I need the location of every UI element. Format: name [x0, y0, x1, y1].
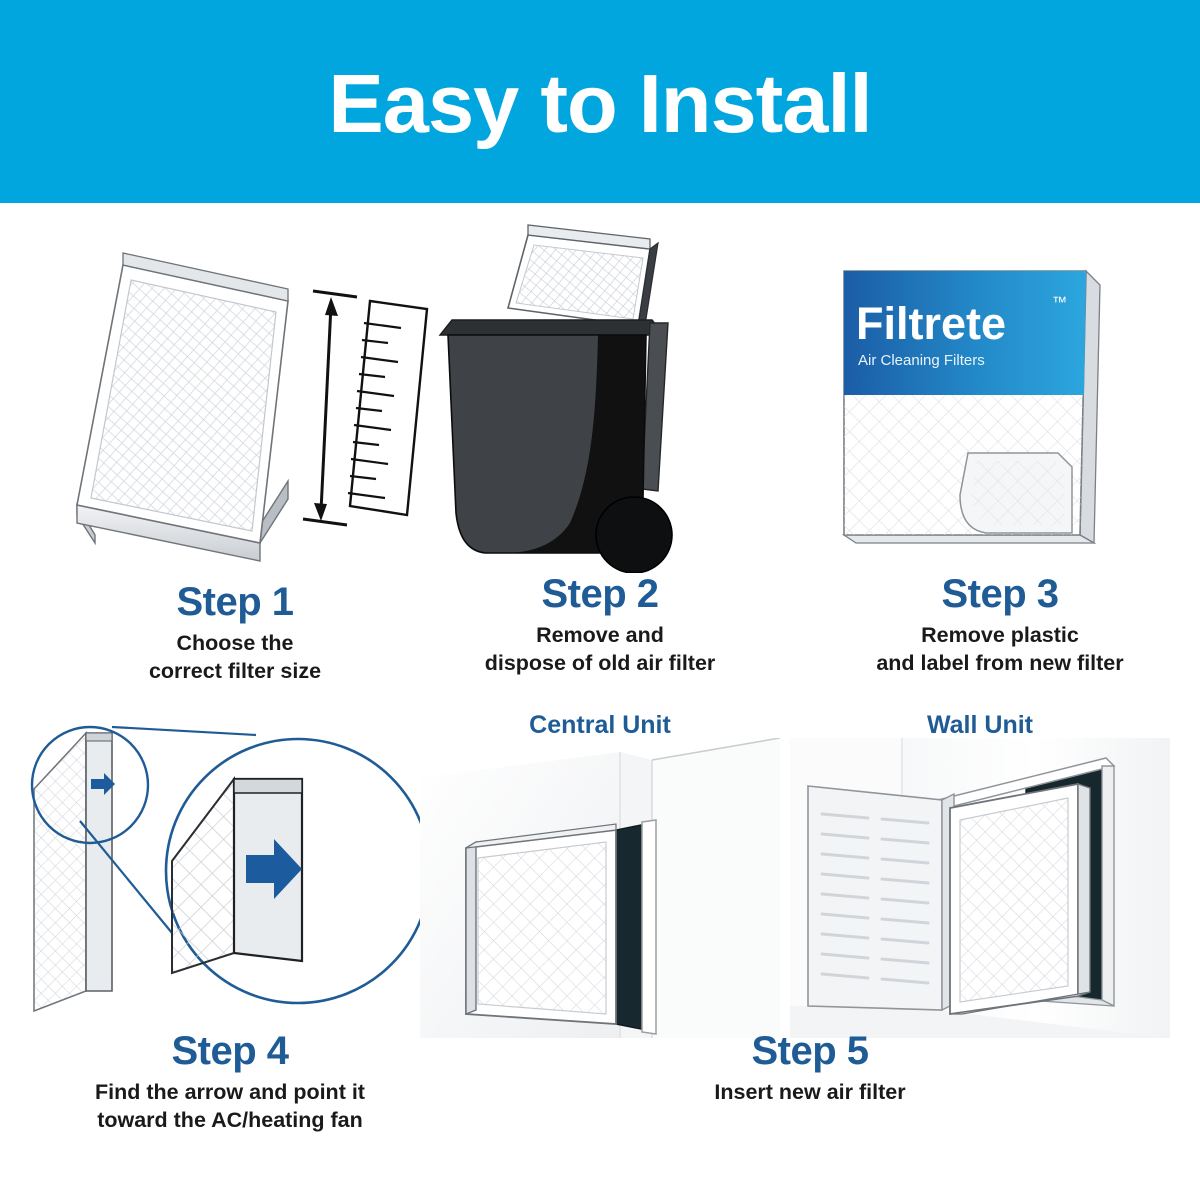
infographic-page: Easy to Install [0, 0, 1200, 1200]
step-3-cell: Filtrete ™ Air Cleaning Filters Step 3 R… [800, 243, 1200, 677]
page-title: Easy to Install [328, 62, 871, 145]
step-5-text: Step 5 Insert new air filter [600, 1030, 1020, 1107]
step-1-illustration [35, 243, 435, 573]
step-2-cell: Step 2 Remove and dispose of old air fil… [400, 223, 800, 677]
header-banner: Easy to Install [0, 0, 1200, 203]
step-1-caption: Choose the correct filter size [35, 630, 435, 685]
step-2-caption: Remove and dispose of old air filter [400, 622, 800, 677]
wall-unit-cell: Wall Unit [790, 713, 1170, 1038]
filtrete-packaged-filter-icon: Filtrete ™ Air Cleaning Filters [800, 243, 1200, 573]
central-unit-label: Central Unit [420, 713, 780, 738]
step-5-caption: Insert new air filter [600, 1079, 1020, 1107]
step-4-title: Step 4 [20, 1030, 440, 1072]
wall-unit-illustration [790, 738, 1170, 1038]
step-3-title: Step 3 [800, 573, 1200, 615]
wall-unit-label: Wall Unit [790, 713, 1170, 738]
step-1-cell: Step 1 Choose the correct filter size [35, 243, 435, 685]
steps-container: Step 1 Choose the correct filter size [0, 203, 1200, 1200]
filter-with-ruler-icon [35, 243, 435, 573]
step-4-caption: Find the arrow and point it toward the A… [20, 1079, 440, 1134]
step-2-title: Step 2 [400, 573, 800, 615]
step-3-illustration: Filtrete ™ Air Cleaning Filters [800, 243, 1200, 573]
wall-unit-icon [790, 738, 1170, 1038]
central-unit-icon [420, 738, 780, 1038]
package-trademark-icon: ™ [1052, 294, 1067, 311]
step-2-illustration [400, 223, 800, 573]
trash-bin-with-old-filter-icon [400, 223, 800, 573]
central-unit-cell: Central Unit [420, 713, 780, 1038]
filter-edge-arrow-magnifier-icon [20, 703, 440, 1023]
step-1-title: Step 1 [35, 581, 435, 623]
package-brand: Filtrete [856, 298, 1006, 349]
step-4-cell [20, 703, 440, 1023]
step-4-text: Step 4 Find the arrow and point it towar… [20, 1030, 440, 1134]
central-unit-illustration [420, 738, 780, 1038]
step-3-caption: Remove plastic and label from new filter [800, 622, 1200, 677]
step-4-illustration [20, 703, 440, 1023]
step-5-title: Step 5 [600, 1030, 1020, 1072]
package-tagline: Air Cleaning Filters [858, 352, 985, 369]
